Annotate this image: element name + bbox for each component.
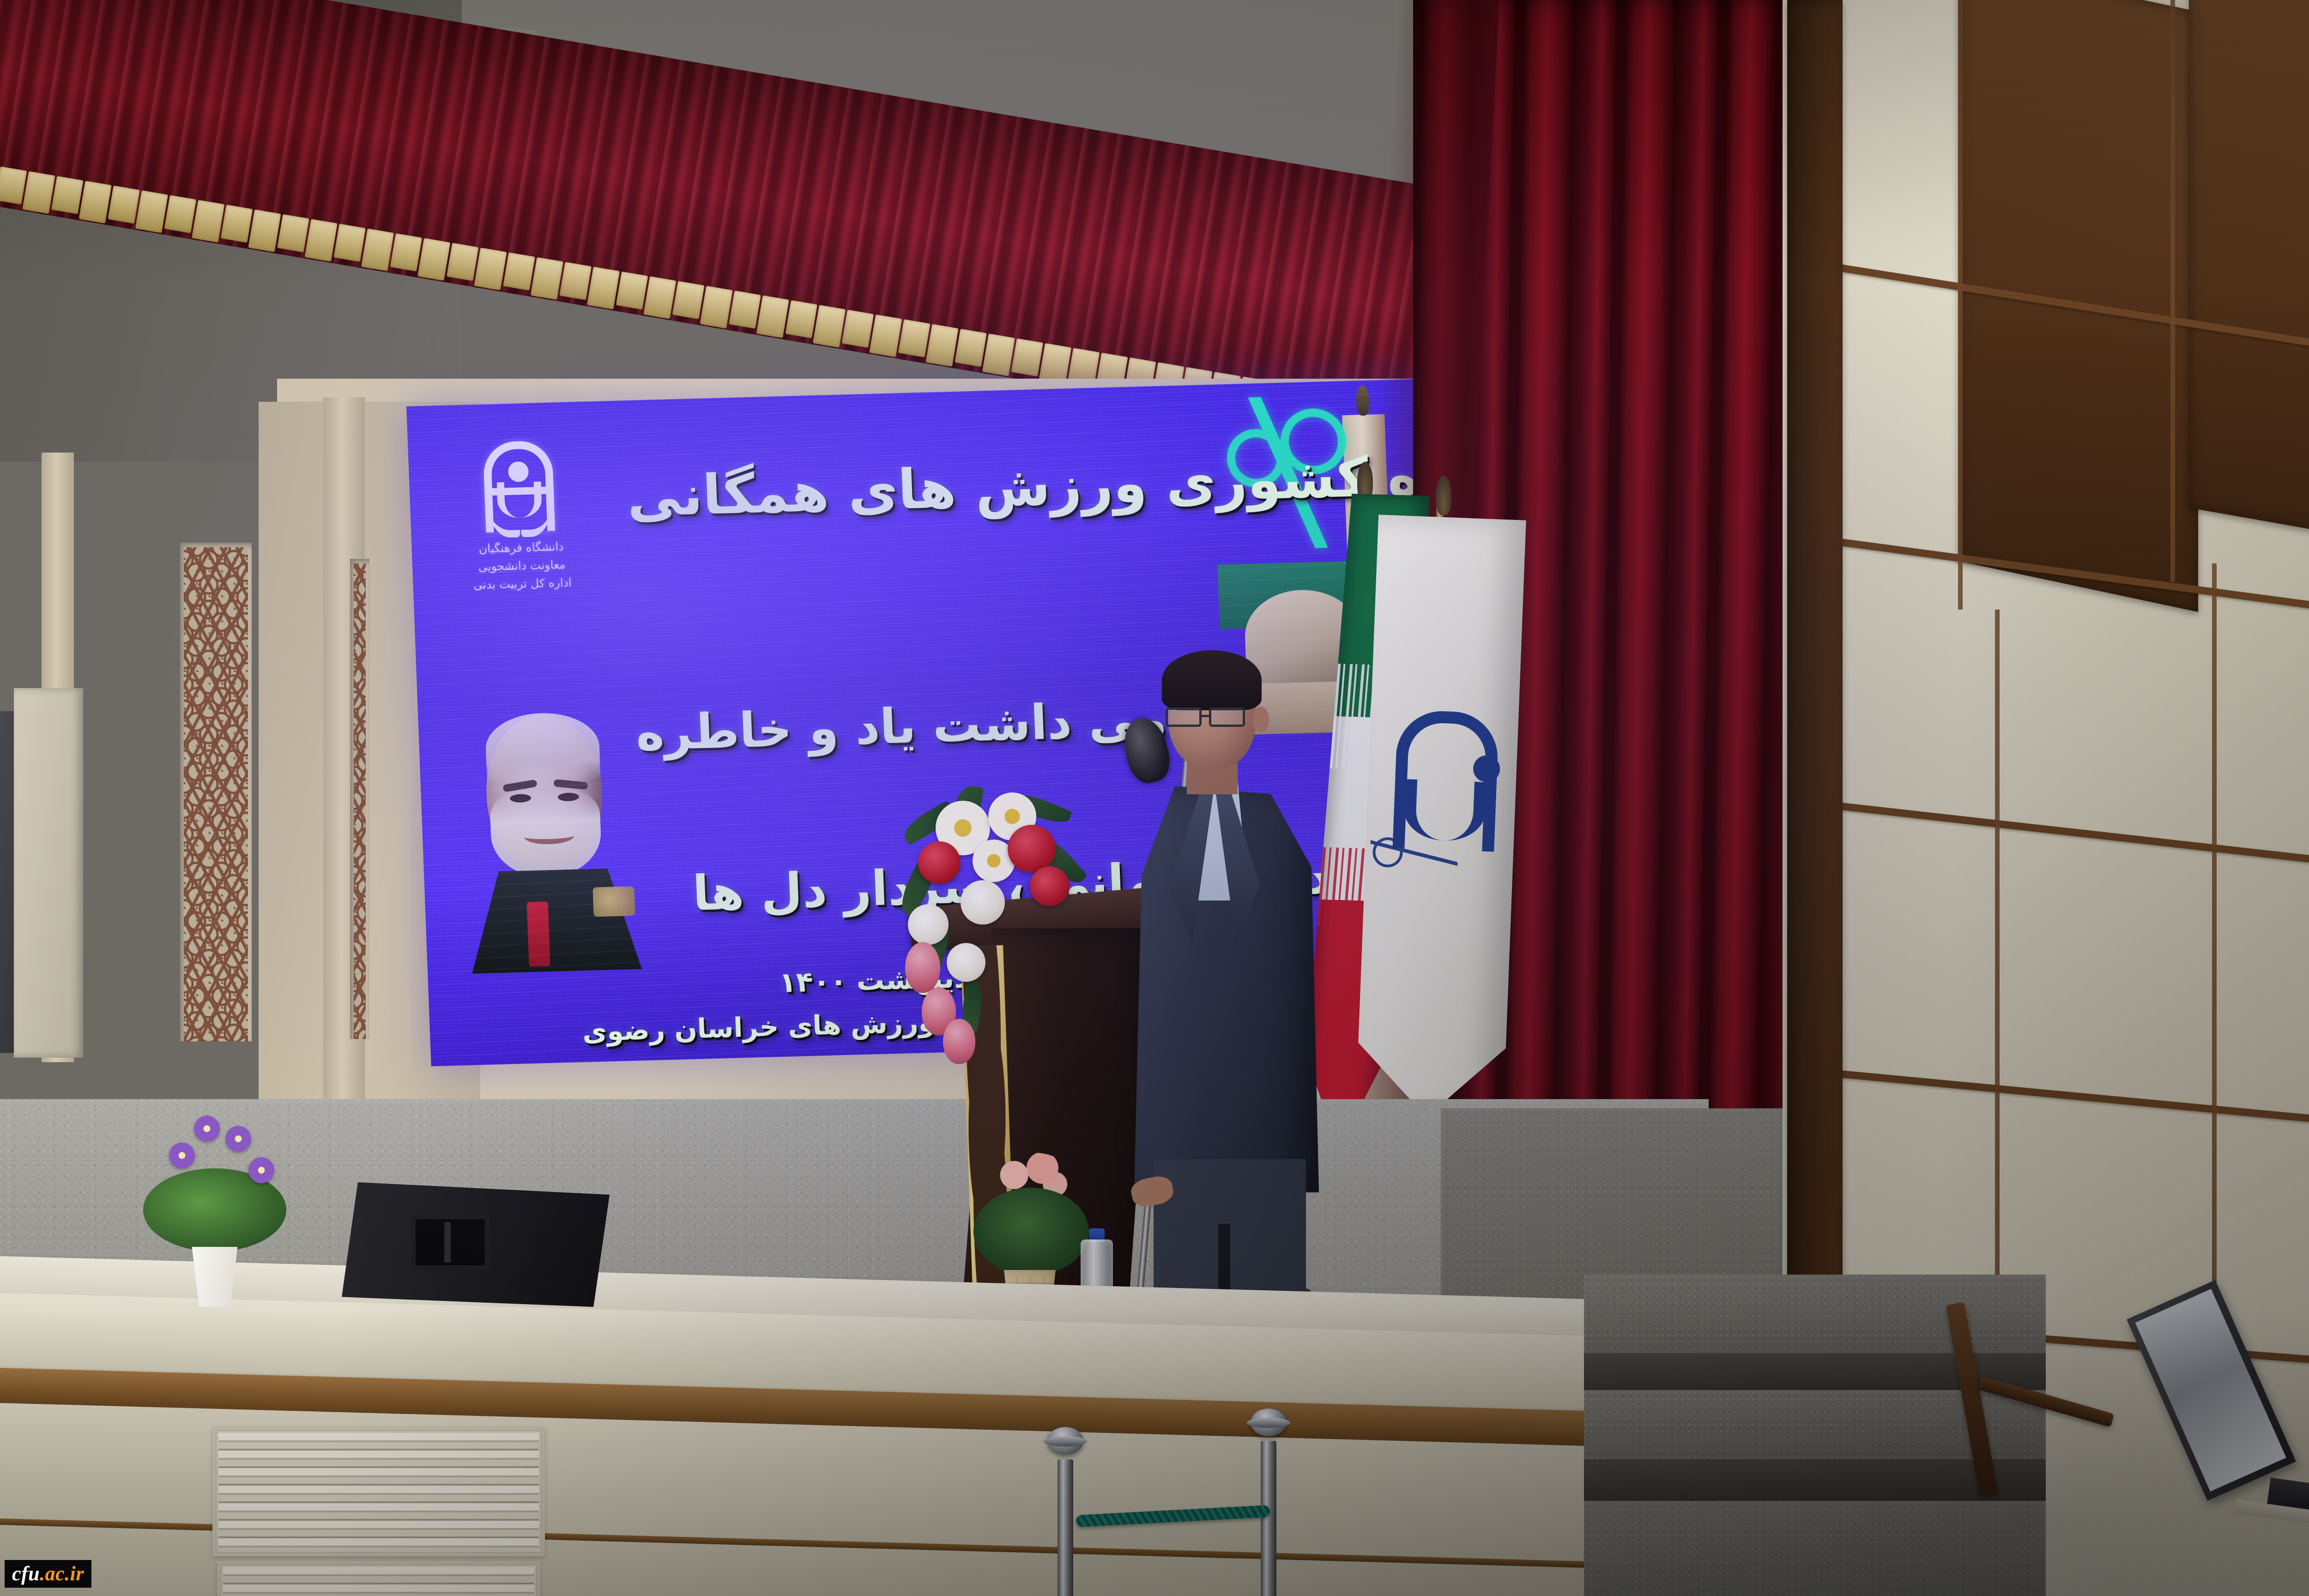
teal-calligraphy-icon — [1211, 394, 1369, 551]
wall-panel-seam-vertical — [2212, 563, 2217, 1312]
speaker-handle — [411, 1215, 490, 1270]
university-emblem-icon — [483, 441, 555, 533]
wall-panel-seam-vertical — [1995, 610, 2000, 1348]
islamic-lattice-pattern — [184, 547, 248, 1041]
eyeglasses-icon — [1166, 707, 1253, 729]
islamic-lattice-pattern — [354, 563, 366, 1039]
speaker-person — [1118, 642, 1325, 1344]
hvac-vent-grille — [212, 1427, 545, 1556]
university-logo-text: دانشگاه فرهنگیان معاونت دانشجویی اداره ک… — [454, 537, 590, 594]
step-tread — [1584, 1275, 2046, 1353]
plant-foliage — [973, 1188, 1089, 1276]
stage-left-panel — [14, 688, 83, 1058]
logo-line-2: معاونت دانشجویی — [454, 555, 589, 577]
wall-panel-seam-vertical — [1958, 0, 1963, 610]
purple-flower — [248, 1157, 274, 1183]
logo-line-1: دانشگاه فرهنگیان — [454, 537, 588, 559]
ear — [1252, 707, 1269, 732]
purple-flower — [225, 1126, 251, 1152]
farhangian-university-flag — [1355, 514, 1526, 1120]
wall-wood-band — [2189, 0, 2309, 545]
purple-flower — [194, 1116, 220, 1142]
lattice-niche-wide — [180, 543, 252, 1041]
logo-line-3: اداره کل تربیت بدنی — [455, 573, 590, 595]
wall-panel-seam-vertical — [2170, 0, 2175, 582]
lattice-niche-narrow — [350, 559, 369, 1039]
martyr-soleimani-portrait — [450, 705, 654, 968]
university-flag-finial-icon — [1436, 476, 1451, 515]
farhangian-university-logo: دانشگاه فرهنگیان معاونت دانشجویی اداره ک… — [450, 440, 590, 595]
purple-flower-vase — [139, 1113, 291, 1307]
site-watermark: cfu.ac.ir — [5, 1560, 91, 1588]
stage-monitor-speaker — [342, 1182, 610, 1307]
hvac-vent-grille — [217, 1561, 540, 1596]
auditorium-stage-scene: دانشگاه فرهنگیان معاونت دانشجویی اداره ک… — [0, 0, 2309, 1596]
laptop[interactable] — [2207, 1302, 2309, 1561]
step-tread — [1584, 1501, 2046, 1596]
region-label: ورزش های خراسان رضوی — [582, 1006, 936, 1047]
purple-flower — [169, 1143, 195, 1168]
flower-bouquet — [891, 780, 1090, 1067]
university-emblem-icon — [1392, 709, 1499, 852]
watermark-part-2: .ac.ir — [40, 1562, 84, 1585]
vase — [185, 1247, 245, 1307]
hair — [1162, 650, 1262, 710]
headline-line-1: اختتامیه جشنواره کشوری ورزش های همگانی — [626, 432, 1475, 529]
watermark-part-1: cfu — [12, 1562, 40, 1585]
